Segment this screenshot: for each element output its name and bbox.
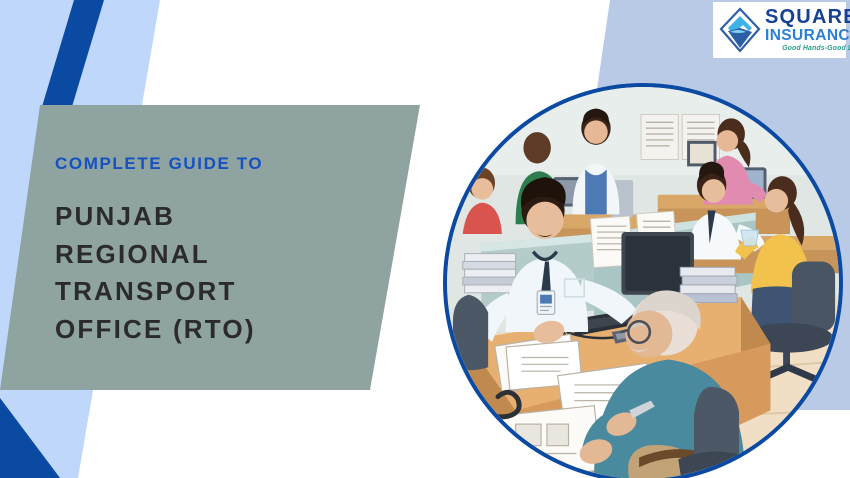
diamond-mountain-icon bbox=[719, 7, 761, 53]
hero-illustration bbox=[443, 83, 843, 478]
headline-line-3: TRANSPORT bbox=[55, 273, 385, 311]
brand-logo[interactable]: ® SQUARE INSURANCE Good Hands-Good Life bbox=[713, 2, 846, 58]
page-title: PUNJAB REGIONAL TRANSPORT OFFICE (RTO) bbox=[55, 198, 385, 349]
logo-tagline: Good Hands-Good Life bbox=[765, 45, 850, 52]
headline-line-1: PUNJAB bbox=[55, 198, 385, 236]
headline-block: COMPLETE GUIDE TO PUNJAB REGIONAL TRANSP… bbox=[55, 155, 385, 349]
logo-name-top: SQUARE bbox=[765, 8, 850, 28]
logo-wordmark: ® SQUARE INSURANCE Good Hands-Good Life bbox=[765, 8, 850, 52]
logo-name-bottom: INSURANCE bbox=[765, 28, 850, 44]
eyebrow-text: COMPLETE GUIDE TO bbox=[55, 155, 385, 172]
headline-line-2: REGIONAL bbox=[55, 236, 385, 274]
banner-root: COMPLETE GUIDE TO PUNJAB REGIONAL TRANSP… bbox=[0, 0, 850, 478]
headline-line-4: OFFICE (RTO) bbox=[55, 311, 385, 349]
office-scene-illustration bbox=[447, 87, 839, 478]
